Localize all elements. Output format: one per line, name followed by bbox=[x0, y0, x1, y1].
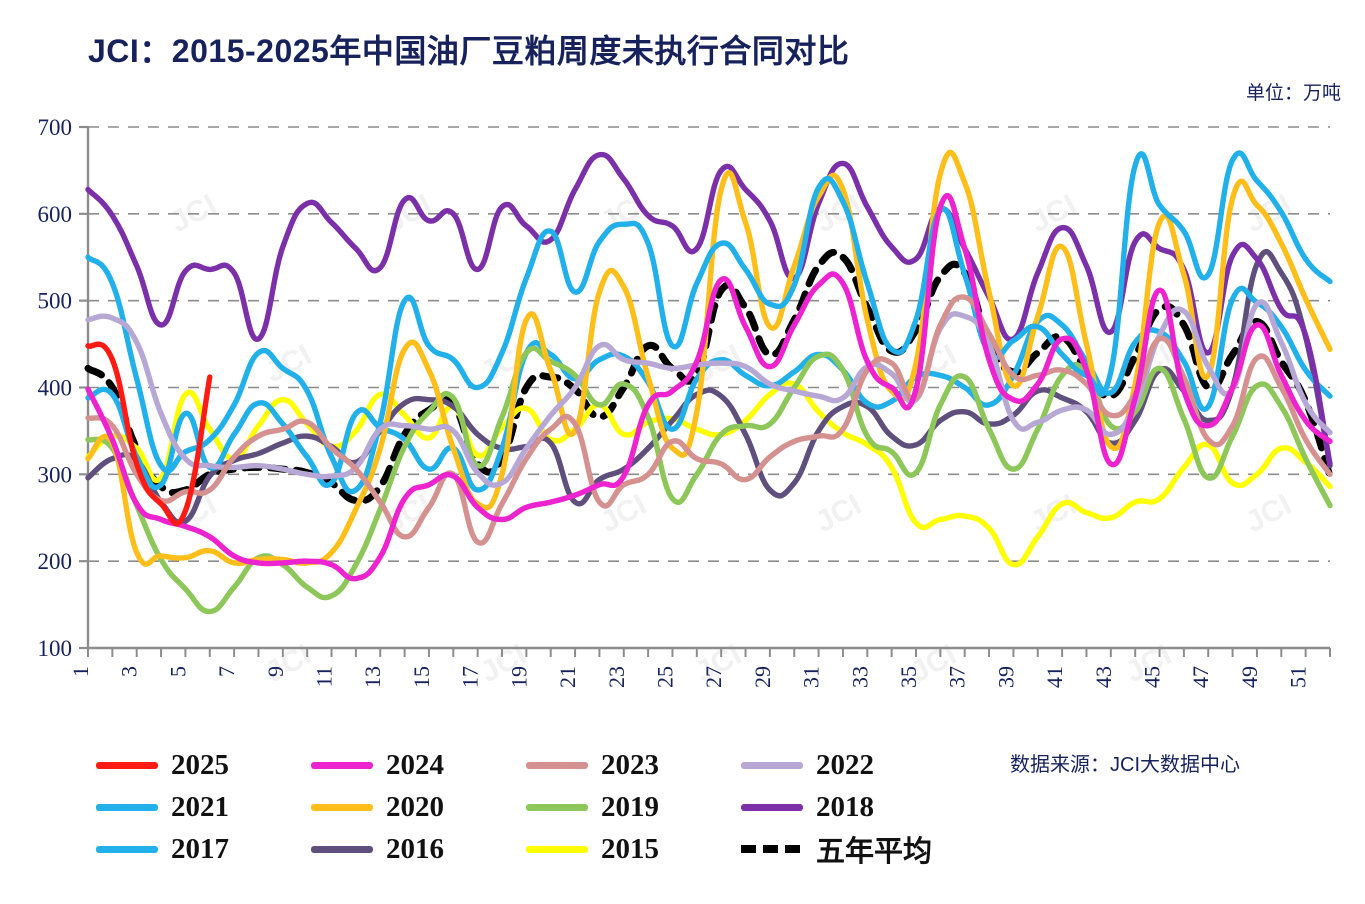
legend-item-2025[interactable]: 2025 bbox=[96, 749, 311, 782]
x-tick-label: 13 bbox=[360, 666, 385, 688]
x-tick-label: 49 bbox=[1237, 666, 1262, 688]
x-tick-label: 5 bbox=[165, 666, 190, 677]
legend-item-2020[interactable]: 2020 bbox=[311, 791, 526, 824]
x-tick-label: 19 bbox=[506, 666, 531, 688]
y-tick-label: 200 bbox=[38, 549, 73, 574]
x-tick-label: 23 bbox=[604, 666, 629, 688]
legend-item-2017[interactable]: 2017 bbox=[96, 833, 311, 866]
y-tick-label: 700 bbox=[38, 115, 73, 140]
x-tick-label: 47 bbox=[1188, 666, 1213, 688]
legend-label-2018: 2018 bbox=[816, 791, 874, 824]
watermark-text: JCI bbox=[1240, 488, 1297, 539]
legend-item-2018[interactable]: 2018 bbox=[741, 791, 971, 824]
x-tick-label: 27 bbox=[701, 666, 726, 688]
x-tick-label: 17 bbox=[458, 666, 483, 688]
legend-item-五年平均[interactable]: 五年平均 bbox=[741, 828, 971, 870]
legend-label-2022: 2022 bbox=[816, 749, 874, 782]
legend-item-2021[interactable]: 2021 bbox=[96, 791, 311, 824]
y-tick-label: 100 bbox=[38, 636, 73, 661]
x-tick-label: 33 bbox=[847, 666, 872, 688]
chart-source-label: 数据来源：JCI大数据中心 bbox=[1010, 748, 1240, 777]
x-tick-label: 39 bbox=[993, 666, 1018, 688]
legend-swatch-2021 bbox=[96, 804, 158, 811]
x-tick-label: 7 bbox=[214, 666, 239, 677]
legend-item-2023[interactable]: 2023 bbox=[526, 749, 741, 782]
y-tick-label: 500 bbox=[38, 289, 73, 314]
legend-label-五年平均: 五年平均 bbox=[816, 828, 932, 870]
watermark-text: JCI bbox=[595, 488, 652, 539]
line-chart-plot: JCIJCIJCIJCIJCIJCIJCIJCIJCIJCIJCIJCIJCIJ… bbox=[0, 0, 1365, 740]
x-tick-label: 51 bbox=[1286, 666, 1311, 688]
watermark-text: JCI bbox=[260, 638, 317, 689]
legend-item-2015[interactable]: 2015 bbox=[526, 833, 741, 866]
y-tick-label: 600 bbox=[38, 202, 73, 227]
x-tick-label: 29 bbox=[750, 666, 775, 688]
legend-label-2024: 2024 bbox=[386, 749, 444, 782]
x-tick-label: 3 bbox=[117, 666, 142, 677]
chart-container: JCI：2015-2025年中国油厂豆粕周度未执行合同对比 单位：万吨 数据来源… bbox=[0, 0, 1365, 904]
x-tick-label: 31 bbox=[799, 666, 824, 688]
x-tick-label: 21 bbox=[555, 666, 580, 688]
legend-swatch-2016 bbox=[311, 846, 373, 853]
legend-swatch-2020 bbox=[311, 804, 373, 811]
x-tick-label: 35 bbox=[896, 666, 921, 688]
x-tick-label: 25 bbox=[652, 666, 677, 688]
legend-label-2023: 2023 bbox=[601, 749, 659, 782]
legend-item-2022[interactable]: 2022 bbox=[741, 749, 971, 782]
legend-swatch-2022 bbox=[741, 762, 803, 769]
legend-swatch-2019 bbox=[526, 804, 588, 811]
watermark-text: JCI bbox=[260, 338, 317, 389]
y-tick-label: 400 bbox=[38, 376, 73, 401]
watermark-text: JCI bbox=[810, 488, 867, 539]
x-tick-label: 1 bbox=[68, 666, 93, 677]
legend-swatch-2018 bbox=[741, 804, 803, 811]
legend-label-2017: 2017 bbox=[171, 833, 229, 866]
y-tick-label: 300 bbox=[38, 462, 73, 487]
legend-item-2024[interactable]: 2024 bbox=[311, 749, 526, 782]
legend-label-2016: 2016 bbox=[386, 833, 444, 866]
legend-swatch-五年平均 bbox=[741, 845, 803, 853]
legend-label-2020: 2020 bbox=[386, 791, 444, 824]
legend-item-2016[interactable]: 2016 bbox=[311, 833, 526, 866]
legend-swatch-2017 bbox=[96, 846, 158, 853]
legend-label-2021: 2021 bbox=[171, 791, 229, 824]
chart-legend: 2025202420232022202120202019201820172016… bbox=[96, 744, 996, 870]
x-tick-label: 43 bbox=[1091, 666, 1116, 688]
x-tick-label: 11 bbox=[312, 666, 337, 687]
x-tick-label: 41 bbox=[1042, 666, 1067, 688]
legend-swatch-2015 bbox=[526, 846, 588, 853]
legend-item-2019[interactable]: 2019 bbox=[526, 791, 741, 824]
legend-swatch-2024 bbox=[311, 762, 373, 769]
legend-label-2015: 2015 bbox=[601, 833, 659, 866]
x-tick-label: 37 bbox=[945, 666, 970, 688]
legend-label-2019: 2019 bbox=[601, 791, 659, 824]
legend-swatch-2025 bbox=[96, 762, 158, 769]
x-tick-label: 45 bbox=[1140, 666, 1165, 688]
legend-swatch-2023 bbox=[526, 762, 588, 769]
x-tick-label: 9 bbox=[263, 666, 288, 677]
legend-label-2025: 2025 bbox=[171, 749, 229, 782]
x-tick-label: 15 bbox=[409, 666, 434, 688]
